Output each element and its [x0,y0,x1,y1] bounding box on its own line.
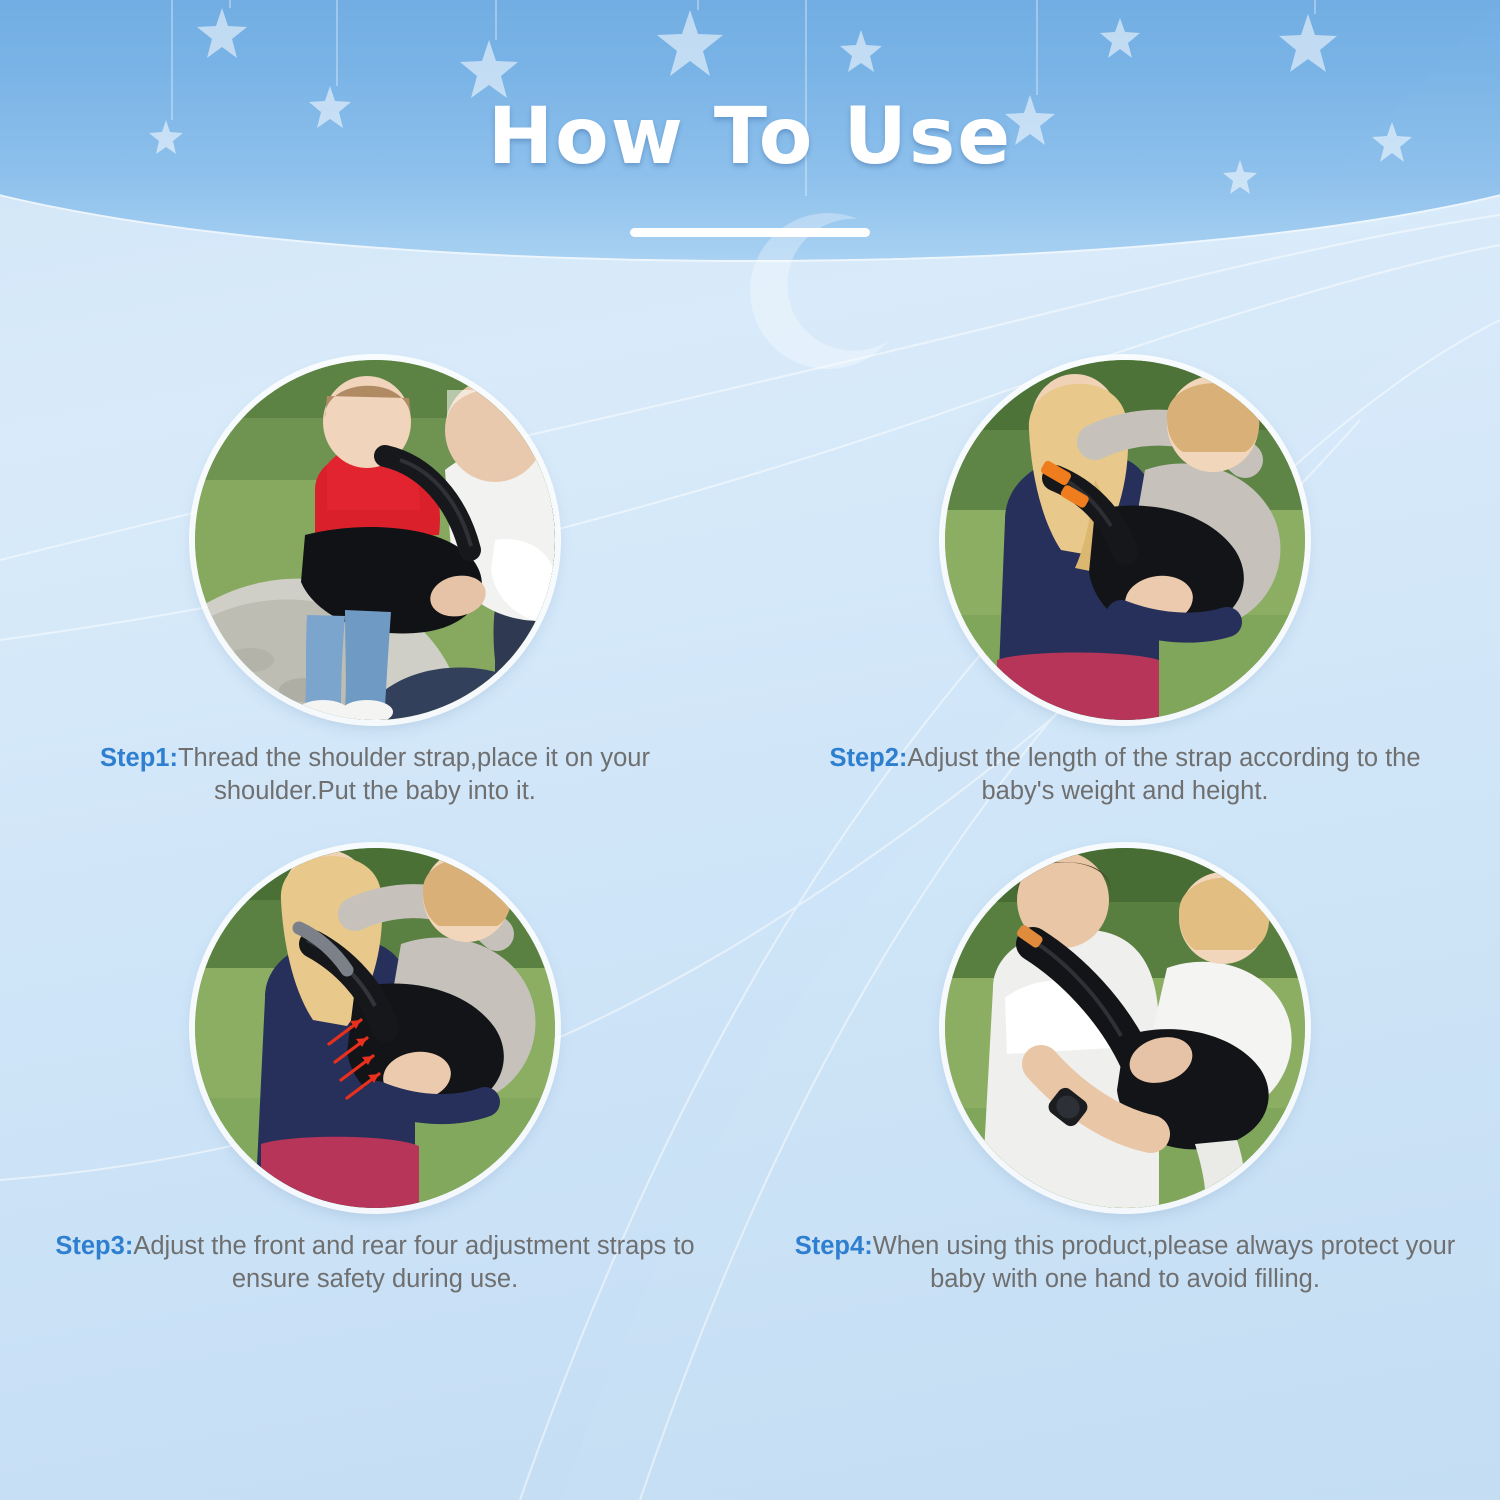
step-card-4: Step4:When using this product,please alw… [750,848,1500,1296]
step3-photo [195,848,555,1208]
step-card-1: Step1:Thread the shoulder strap,place it… [0,360,750,808]
step4-caption: Step4:When using this product,please alw… [775,1230,1475,1296]
steps-grid: Step1:Thread the shoulder strap,place it… [0,360,1500,1297]
step4-photo [945,848,1305,1208]
step-card-2: Step2:Adjust the length of the strap acc… [750,360,1500,808]
page-root: How To Use [0,0,1500,1500]
step1-caption: Step1:Thread the shoulder strap,place it… [45,742,705,808]
step2-label: Step2: [829,744,907,772]
step2-text: Adjust the length of the strap according… [907,744,1420,805]
step2-caption: Step2:Adjust the length of the strap acc… [795,742,1455,808]
step-card-3: Step3:Adjust the front and rear four adj… [0,848,750,1296]
step3-label: Step3: [55,1232,133,1260]
page-title: How To Use [0,92,1500,182]
step4-label: Step4: [795,1232,873,1260]
step1-photo [195,360,555,720]
step3-caption: Step3:Adjust the front and rear four adj… [25,1230,725,1296]
step2-photo [945,360,1305,720]
step4-text: When using this product,please always pr… [873,1232,1456,1293]
step3-text: Adjust the front and rear four adjustmen… [133,1232,694,1293]
step1-label: Step1: [100,744,178,772]
title-underline [630,228,870,237]
step1-text: Thread the shoulder strap,place it on yo… [178,744,650,805]
